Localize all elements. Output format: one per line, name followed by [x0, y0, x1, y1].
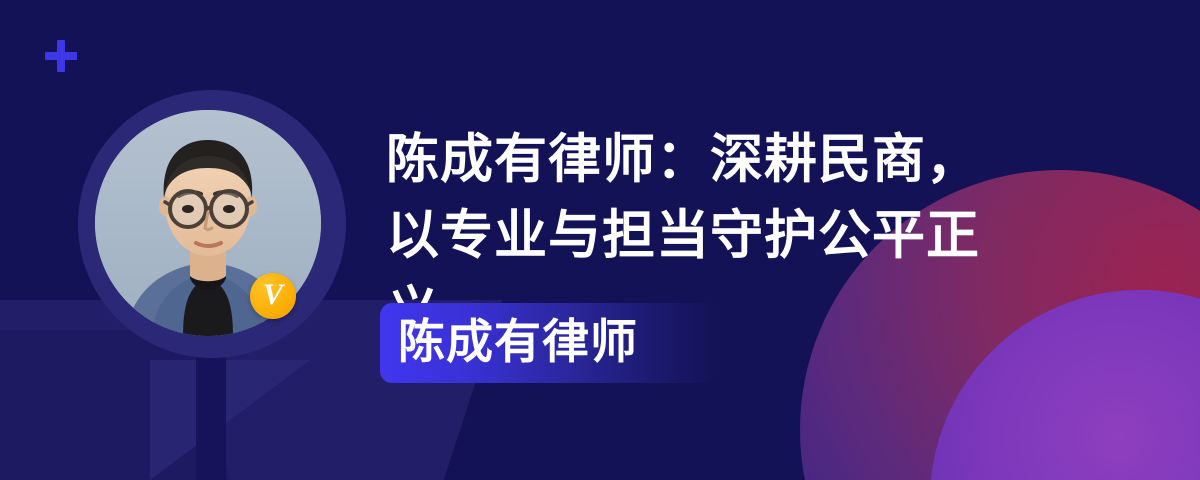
avatar[interactable]: V: [95, 110, 321, 336]
promo-banner: V 陈成有律师：深耕民商， 以专业与担当守护公平正 义 陈成有律师: [0, 0, 1200, 480]
background-triangle: [150, 360, 310, 480]
name-pill-label: 陈成有律师: [398, 315, 638, 371]
verified-badge-glyph: V: [263, 280, 283, 310]
verified-badge-icon: V: [250, 273, 296, 319]
plus-icon: [45, 40, 77, 72]
background-bar: [196, 356, 226, 480]
